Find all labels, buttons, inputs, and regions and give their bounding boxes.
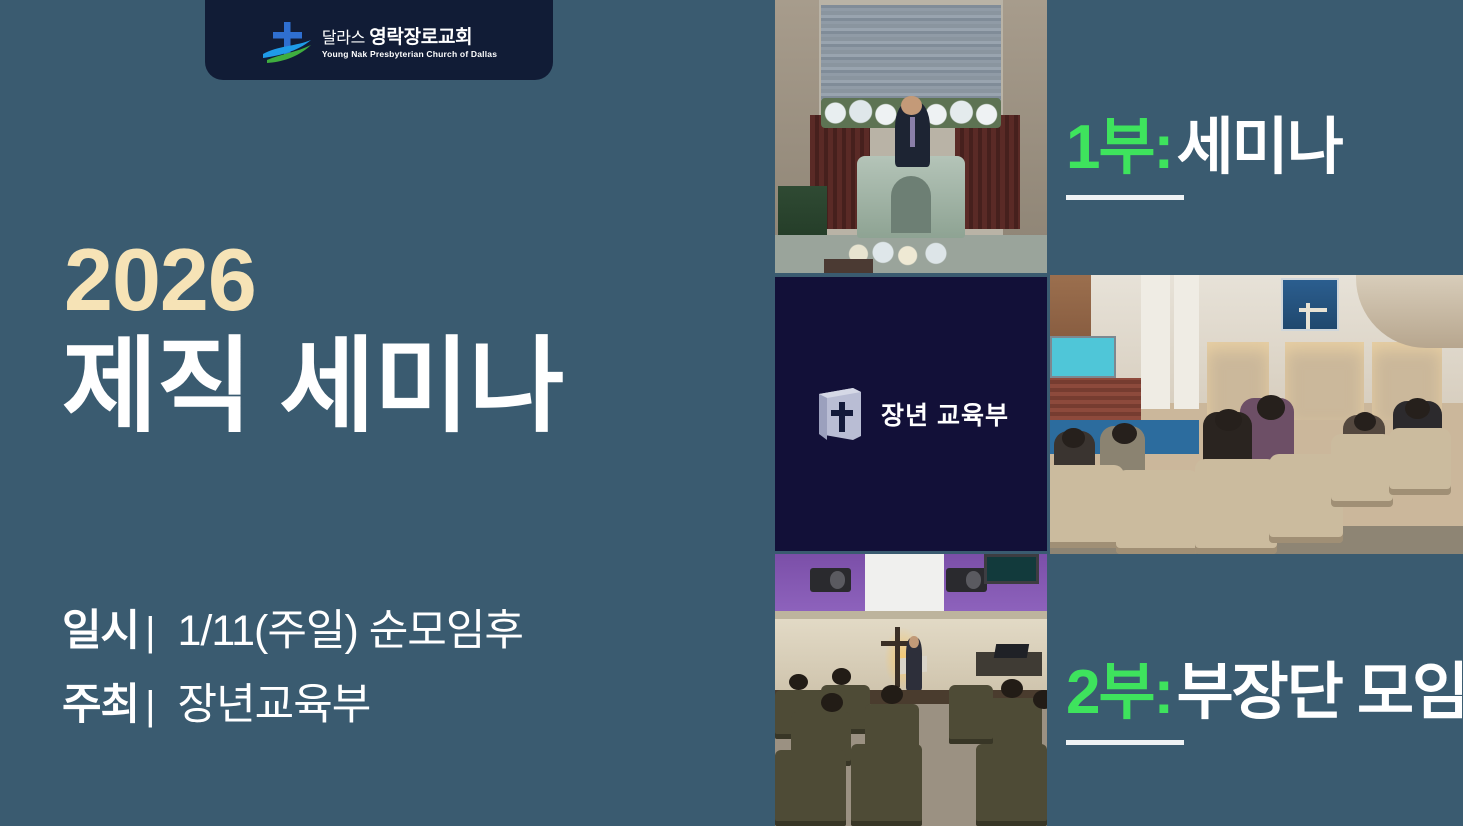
section-label-part1: 1부: 세미나 <box>1066 96 1342 200</box>
church-name-korean: 달라스 영락장로교회 <box>322 28 497 47</box>
detail-separator: | <box>145 610 155 655</box>
photo-meeting <box>775 554 1047 826</box>
department-logo-text: 장년 교육부 <box>881 396 1009 432</box>
detail-value-host: 장년교육부 <box>178 670 371 732</box>
detail-row-host: 주최 | 장년교육부 <box>62 670 523 732</box>
church-name-prefix: 달라스 <box>322 30 369 47</box>
section-underline <box>1066 740 1184 745</box>
cross-with-swoosh-icon <box>261 20 313 66</box>
section-label-part2: 2부: 부장단 모임 <box>1066 641 1463 745</box>
section-number-2: 2부: <box>1066 658 1172 727</box>
detail-label-date: 일시 <box>62 596 139 658</box>
detail-row-date: 일시 | 1/11(주일) 순모임후 <box>62 596 523 658</box>
photo-department-logo: 장년 교육부 <box>775 277 1047 551</box>
church-logo-badge: 달라스 영락장로교회 Young Nak Presbyterian Church… <box>205 0 553 80</box>
section-underline <box>1066 195 1184 200</box>
event-details: 일시 | 1/11(주일) 순모임후 주최 | 장년교육부 <box>62 596 523 744</box>
church-name-main: 영락장로교회 <box>369 27 472 48</box>
section-number-1: 1부: <box>1066 113 1172 182</box>
detail-separator: | <box>145 684 155 729</box>
church-name-english: Young Nak Presbyterian Church of Dallas <box>322 50 497 59</box>
section-name-1: 세미나 <box>1177 113 1342 182</box>
poster-canvas: 달라스 영락장로교회 Young Nak Presbyterian Church… <box>0 0 1463 826</box>
detail-value-date: 1/11(주일) 순모임후 <box>178 596 523 658</box>
year-text: 2026 <box>64 238 256 322</box>
page-title: 제직 세미나 <box>62 333 563 442</box>
section-name-2: 부장단 모임 <box>1177 658 1463 727</box>
photo-sermon <box>775 0 1047 273</box>
bible-book-cross-icon <box>813 384 865 444</box>
detail-label-host: 주최 <box>62 670 139 732</box>
photo-audience <box>1050 275 1463 554</box>
